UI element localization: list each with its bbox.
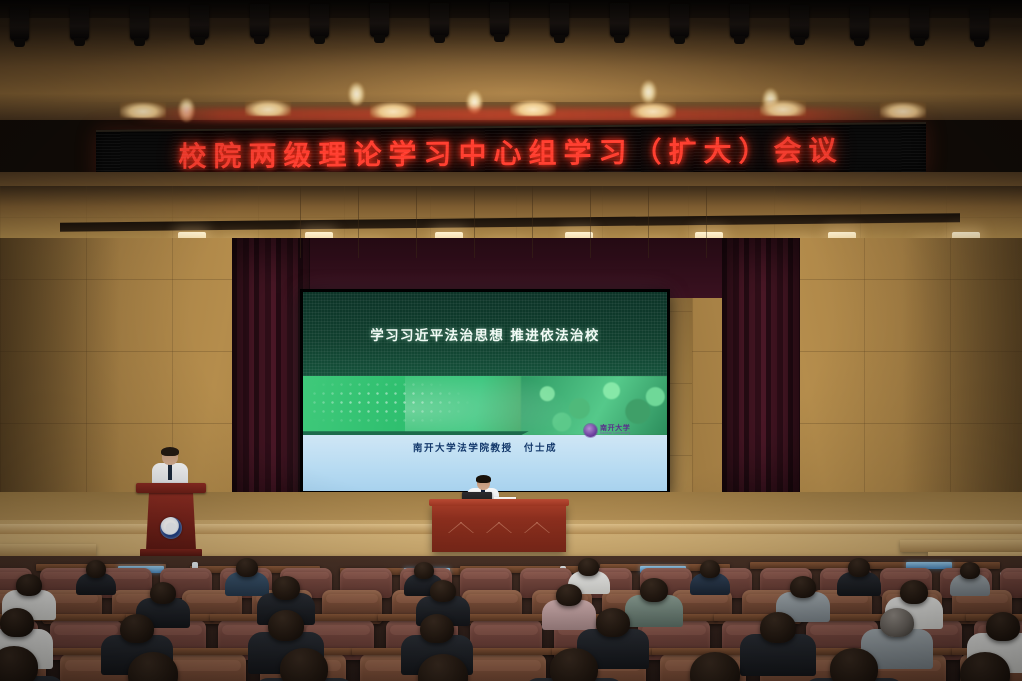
audience-person-head xyxy=(790,576,816,598)
soffit-seam xyxy=(590,186,591,258)
stage-light-fixture xyxy=(910,6,929,40)
auditorium-photo: 校院两级理论学习中心组学习（扩大）会议 学习习近平法治思想 推进依法治校 xyxy=(0,0,1022,681)
podium xyxy=(140,483,202,557)
warm-downlight xyxy=(760,100,806,116)
stage-light-fixture xyxy=(70,6,89,40)
university-emblem-icon xyxy=(160,517,182,539)
warm-downlight xyxy=(510,100,556,116)
slide-title-area: 学习习近平法治思想 推进依法治校 xyxy=(303,292,667,376)
stage-light-fixture xyxy=(130,6,149,40)
audience-person-head xyxy=(578,558,599,576)
stage-light-fixture xyxy=(10,7,29,41)
warm-downlight xyxy=(120,102,166,118)
stage-light-fixture xyxy=(550,3,569,37)
slide-subtitle: 南开大学法学院教授 付士成 xyxy=(303,440,667,454)
warm-downlight xyxy=(245,100,291,116)
stage-light-fixture xyxy=(850,6,869,40)
audience-desk xyxy=(462,614,550,621)
slide-title: 学习习近平法治思想 推进依法治校 xyxy=(370,324,600,344)
audience-person-head xyxy=(900,580,928,604)
soffit-seam xyxy=(416,186,417,258)
stage-light-fixture xyxy=(430,3,449,37)
led-banner-text: 校院两级理论学习中心组学习（扩大）会议 xyxy=(178,129,843,175)
soffit-seam xyxy=(300,186,301,258)
logo-english-name: Nankai University xyxy=(600,432,631,435)
audience-person-head xyxy=(120,614,154,643)
audience-person-head xyxy=(280,648,328,681)
warm-downlight xyxy=(370,102,416,118)
audience-person-head xyxy=(880,608,914,637)
audience-person-head xyxy=(986,612,1020,641)
presentation-slide: 学习习近平法治思想 推进依法治校 南开大学 Nankai University … xyxy=(303,292,667,491)
audience-person-head xyxy=(848,558,870,577)
projection-screen: 学习习近平法治思想 推进依法治校 南开大学 Nankai University … xyxy=(300,289,670,494)
audience-person-head xyxy=(700,560,720,578)
nankai-university-logo: 南开大学 Nankai University xyxy=(584,424,631,437)
table-chevron-2 xyxy=(486,522,512,533)
audience-person-head xyxy=(550,648,598,681)
head-table-top xyxy=(429,499,569,506)
soffit-seam xyxy=(532,186,533,258)
soffit-seam xyxy=(648,186,649,258)
audience-person-head xyxy=(0,608,34,637)
audience-area xyxy=(0,556,1022,681)
speaker-hair xyxy=(161,447,179,456)
downlight-row xyxy=(0,96,1022,122)
audience-person-head xyxy=(150,582,176,604)
audience-person-head xyxy=(420,614,454,643)
head-table xyxy=(432,504,566,552)
stage-light-fixture xyxy=(190,5,209,39)
audience-person-head xyxy=(556,584,582,606)
stage-light-fixture xyxy=(610,3,629,37)
warm-downlight xyxy=(880,102,926,118)
stage-step-left-1 xyxy=(0,544,96,556)
stage-step-right-1 xyxy=(900,540,1022,552)
audience-person-head xyxy=(16,574,42,596)
stage-light-fixture xyxy=(370,3,389,37)
stage-curtain-right xyxy=(722,238,800,526)
banner-dot-pattern xyxy=(310,380,485,430)
speaker-tie xyxy=(168,464,172,480)
standing-speaker xyxy=(150,448,190,488)
stage-light-fixture xyxy=(310,4,329,38)
audience-person-head xyxy=(430,580,456,602)
stage-light-fixture xyxy=(730,4,749,38)
audience-person-head xyxy=(86,560,106,578)
audience-person-head xyxy=(596,608,630,637)
audience-person-head xyxy=(760,612,796,643)
soffit-seam xyxy=(358,186,359,258)
stage-light-fixture xyxy=(250,4,269,38)
audience-person-head xyxy=(272,576,300,600)
stage-light-fixture xyxy=(670,4,689,38)
seated-hair xyxy=(476,475,491,483)
table-chevron-3 xyxy=(524,522,550,533)
stage-light-fixture xyxy=(490,2,509,36)
stage-light-fixture xyxy=(790,5,809,39)
podium-top-surface xyxy=(136,483,206,493)
stage-light-fixture xyxy=(970,7,989,41)
audience-person-head xyxy=(236,558,258,577)
warm-downlight xyxy=(630,102,676,118)
soffit-seam xyxy=(706,186,707,258)
soffit-seam xyxy=(474,186,475,258)
audience-person-head xyxy=(960,562,980,579)
university-seal-icon xyxy=(584,424,597,437)
audience-person-head xyxy=(268,610,304,641)
audience-person-head xyxy=(640,578,668,602)
audience-person-head xyxy=(830,648,878,681)
audience-person-head xyxy=(414,562,434,579)
table-chevron-1 xyxy=(448,522,474,533)
